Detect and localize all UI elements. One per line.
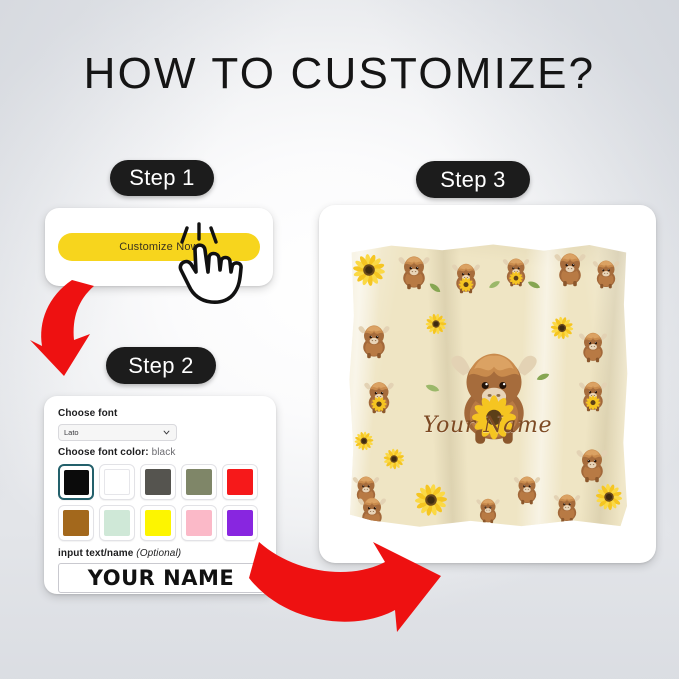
highland-cow-motif — [510, 471, 544, 510]
step-2-card: Choose font Lato Choose font color: blac… — [44, 396, 276, 594]
color-swatch-brown[interactable] — [58, 505, 94, 541]
blanket-name-text: Your Name — [346, 414, 629, 438]
color-chip — [145, 469, 171, 495]
highland-cow-motif — [550, 489, 584, 528]
blanket-fabric: Your Name — [346, 241, 629, 529]
color-swatch-dark-gray[interactable] — [140, 464, 176, 500]
choose-font-label: Choose font — [58, 408, 264, 419]
highland-cow-motif — [550, 247, 590, 292]
color-chip — [63, 510, 89, 536]
leaf-motif — [527, 276, 541, 294]
highland-cow-motif — [575, 327, 611, 368]
blanket-preview: Your Name — [346, 241, 629, 529]
color-chip — [227, 469, 253, 495]
input-name-label: input text/name (Optional) — [58, 548, 264, 559]
chevron-down-icon — [163, 429, 170, 436]
color-swatch-white[interactable] — [99, 464, 135, 500]
input-name-label-text: input text/name — [58, 548, 133, 559]
name-text-input[interactable]: YOUR NAME — [58, 563, 264, 593]
highland-cow-motif — [575, 376, 611, 417]
sunflower-motif — [352, 253, 386, 292]
color-chip — [64, 470, 89, 495]
sunflower-motif — [383, 448, 405, 475]
highland-cow-motif — [354, 492, 390, 529]
highland-cow-motif — [473, 494, 503, 529]
color-swatch-black[interactable] — [58, 464, 94, 500]
color-chip — [145, 510, 171, 536]
arrow-step2-to-step3 — [245, 528, 455, 638]
color-swatch-yellow[interactable] — [140, 505, 176, 541]
input-name-optional: (Optional) — [136, 548, 181, 559]
choose-font-color-label: Choose font color: black — [58, 447, 264, 458]
highland-cow-motif — [572, 443, 612, 488]
font-color-value: black — [152, 447, 176, 458]
color-chip — [104, 510, 130, 536]
name-text-input-value: YOUR NAME — [88, 568, 234, 589]
highland-cow-motif — [448, 258, 484, 299]
leaf-motif — [488, 276, 501, 294]
highland-cow-motif — [354, 319, 394, 364]
highland-cow-motif — [589, 255, 623, 294]
font-color-label-text: Choose font color: — [58, 447, 149, 458]
color-chip — [104, 469, 130, 495]
sunflower-motif — [595, 483, 623, 516]
step-3-card: Your Name — [319, 205, 656, 563]
sunflower-motif — [550, 316, 574, 345]
arrow-step1-to-step2 — [28, 278, 132, 378]
pointing-hand-icon — [165, 222, 257, 306]
color-chip — [186, 469, 212, 495]
color-swatch-sage-green[interactable] — [181, 464, 217, 500]
page-title: HOW TO CUSTOMIZE? — [0, 48, 679, 100]
font-select[interactable]: Lato — [58, 424, 177, 441]
sunflower-motif — [414, 483, 448, 522]
color-swatch-mint[interactable] — [99, 505, 135, 541]
highland-cow-motif — [360, 376, 398, 419]
font-select-value: Lato — [64, 428, 79, 437]
step-1-badge: Step 1 — [110, 160, 214, 196]
color-chip — [186, 510, 212, 536]
leaf-motif — [428, 278, 442, 296]
color-swatch-grid — [58, 464, 264, 541]
leaf-motif — [425, 379, 440, 397]
step-3-badge: Step 3 — [416, 161, 530, 198]
color-swatch-red[interactable] — [222, 464, 258, 500]
color-swatch-pink[interactable] — [181, 505, 217, 541]
